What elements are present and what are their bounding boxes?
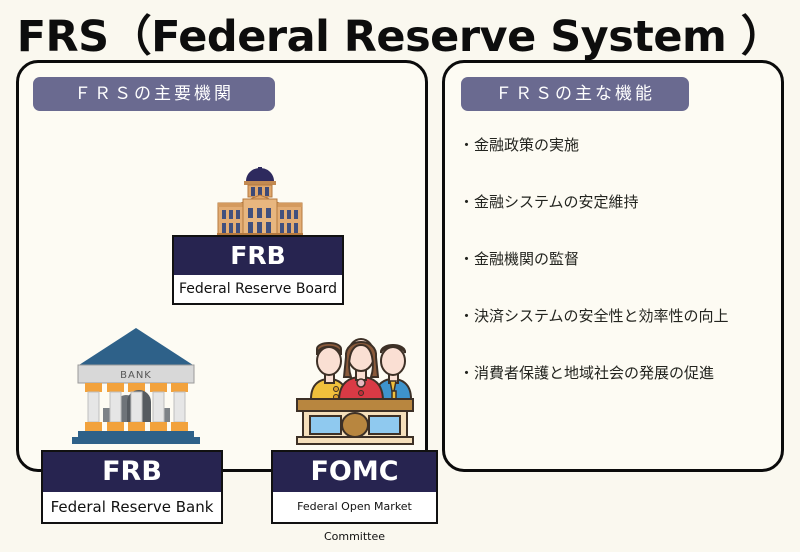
org-box-frb-board[interactable]: FRB Federal Reserve Board bbox=[172, 235, 344, 305]
function-list: ・金融政策の実施 ・金融システムの安定維持 ・金融機関の監督 ・決済システムの安… bbox=[459, 135, 779, 420]
function-list-item: ・金融政策の実施 bbox=[459, 135, 779, 192]
org-box-fomc-abbr: FOMC bbox=[273, 452, 436, 492]
panel-main-functions: ＦＲＳの主な機能 ・金融政策の実施 ・金融システムの安定維持 ・金融機関の監督 … bbox=[442, 60, 784, 472]
org-box-frb-board-fullname: Federal Reserve Board bbox=[174, 275, 342, 303]
function-list-item: ・金融システムの安定維持 bbox=[459, 192, 779, 249]
panel-institutions-badge: ＦＲＳの主要機関 bbox=[33, 77, 275, 111]
svg-text:BANK: BANK bbox=[120, 370, 152, 381]
org-box-fomc-fullname: Federal Open Market Committee bbox=[273, 492, 436, 522]
org-box-frb-bank-fullname: Federal Reserve Bank bbox=[43, 492, 221, 522]
org-box-frb-bank[interactable]: FRB Federal Reserve Bank bbox=[41, 450, 223, 524]
function-list-item: ・金融機関の監督 bbox=[459, 249, 779, 306]
bank-building-icon: BANK bbox=[72, 322, 200, 444]
capitol-building-icon bbox=[215, 167, 305, 235]
panel-main-institutions: ＦＲＳの主要機関 bbox=[16, 60, 428, 472]
function-list-item: ・消費者保護と地域社会の発展の促進 bbox=[459, 363, 779, 420]
org-box-frb-bank-abbr: FRB bbox=[43, 452, 221, 492]
function-list-item: ・決済システムの安全性と効率性の向上 bbox=[459, 306, 779, 363]
page-title: FRS（Federal Reserve System ） bbox=[0, 2, 800, 64]
committee-people-icon bbox=[283, 321, 427, 445]
panel-functions-badge: ＦＲＳの主な機能 bbox=[461, 77, 689, 111]
org-box-frb-board-abbr: FRB bbox=[174, 237, 342, 275]
org-box-fomc[interactable]: FOMC Federal Open Market Committee bbox=[271, 450, 438, 524]
